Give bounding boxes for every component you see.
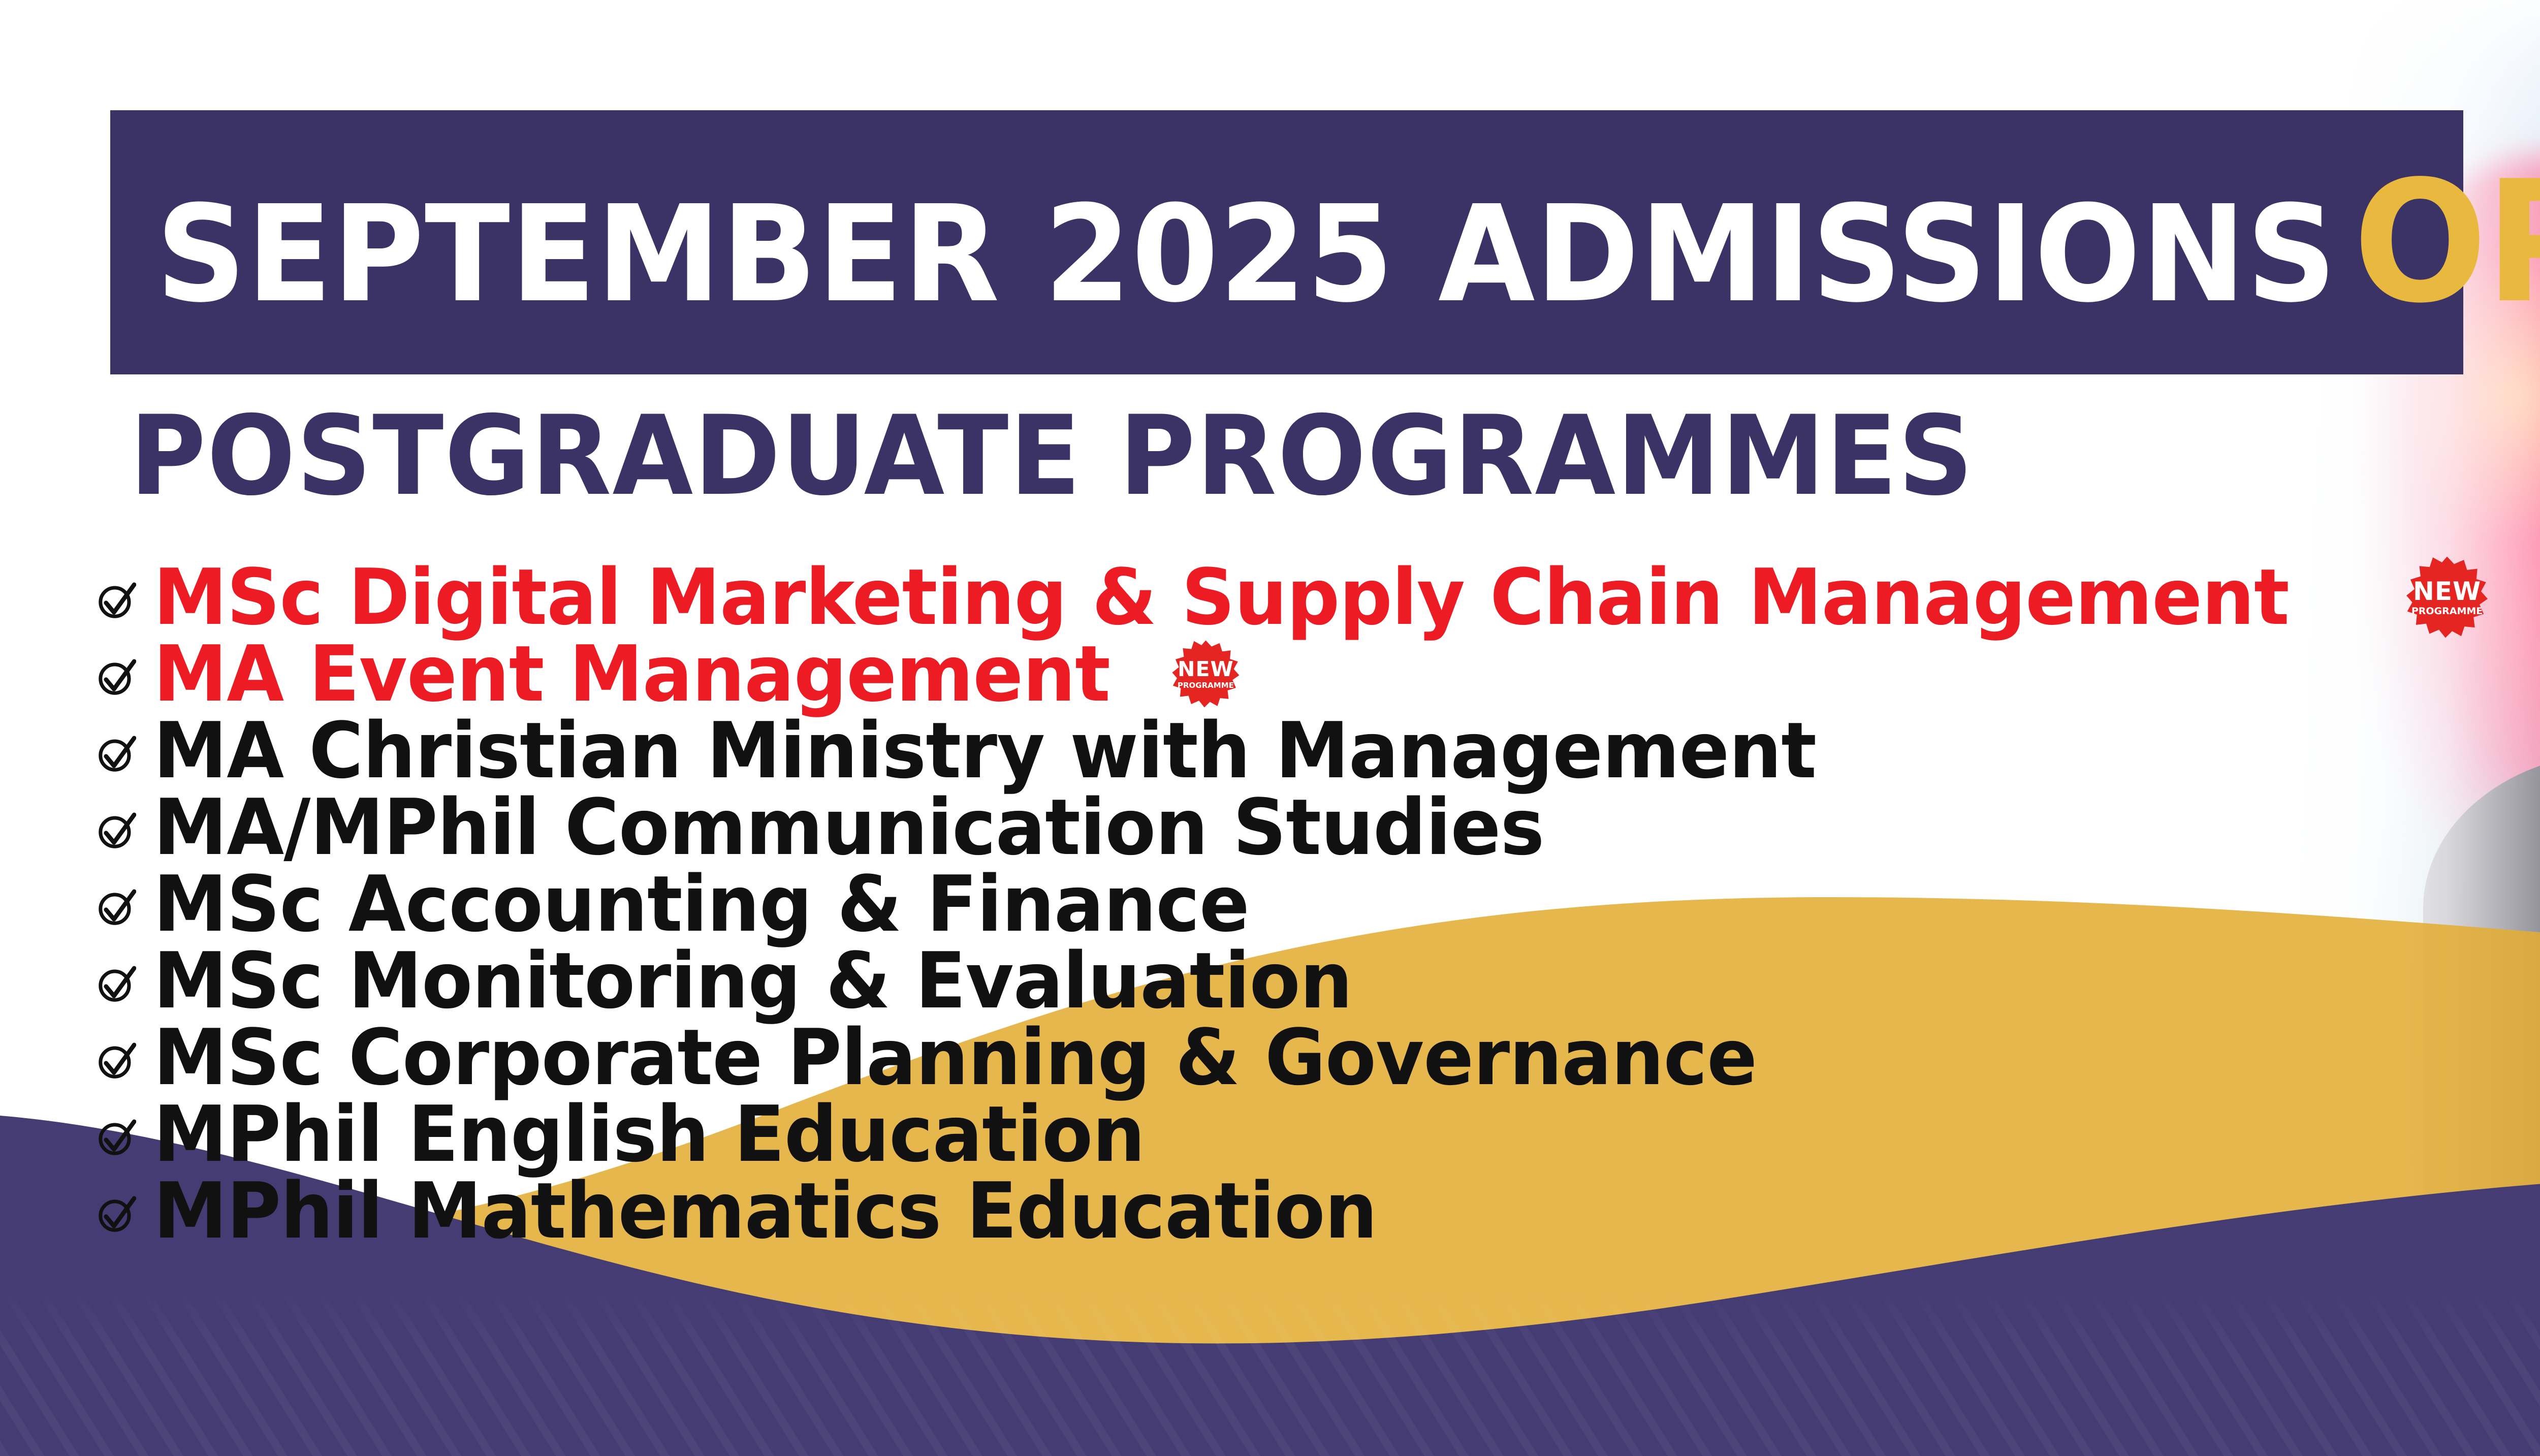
programme-item-2[interactable]: MA Christian Ministry with Management <box>97 712 2488 789</box>
badge-new-label: NEW <box>2413 579 2481 604</box>
list-item-label: MA Christian Ministry with Management <box>153 712 1816 789</box>
list-item-label: MSc Monitoring & Evaluation <box>153 942 1352 1020</box>
list-item-label: MA Event Management <box>153 636 1110 713</box>
check-circle-icon <box>97 1118 136 1157</box>
programme-list: MSc Digital Marketing & Supply Chain Man… <box>97 559 2488 1249</box>
banner-content: SEPTEMBER 2025 ADMISSIONSOPEN POSTGRADUA… <box>0 0 2489 1456</box>
check-circle-icon <box>97 1041 136 1081</box>
headline-open-label: OPEN <box>2353 145 2540 340</box>
check-circle-icon <box>97 581 136 620</box>
programme-item-8[interactable]: MPhil Mathematics Education <box>97 1173 2488 1249</box>
check-circle-icon <box>97 1194 136 1234</box>
check-circle-icon <box>97 734 136 774</box>
programme-item-0[interactable]: MSc Digital Marketing & Supply Chain Man… <box>97 559 2488 636</box>
admissions-banner: GRADUATING CLASS 🌿 GCDIΠX CSU EXCELLENCE… <box>0 0 2540 1456</box>
check-circle-icon <box>97 964 136 1004</box>
check-circle-icon <box>97 657 136 697</box>
programme-item-5[interactable]: MSc Monitoring & Evaluation <box>97 942 2488 1019</box>
list-item-label: MPhil Mathematics Education <box>153 1173 1377 1250</box>
programme-item-4[interactable]: MSc Accounting & Finance <box>97 866 2488 942</box>
check-circle-icon <box>97 811 136 850</box>
headline-main-text: SEPTEMBER 2025 ADMISSIONSOPEN <box>156 159 2540 326</box>
badge-programme-label: PROGRAMME <box>1178 682 1234 689</box>
new-programme-badge: NEWPROGRAMME <box>2406 557 2488 638</box>
check-circle-icon <box>97 888 136 927</box>
programme-item-7[interactable]: MPhil English Education <box>97 1096 2488 1173</box>
list-item-label: MSc Digital Marketing & Supply Chain Man… <box>153 559 2289 636</box>
headline-main-label: SEPTEMBER 2025 ADMISSIONS <box>156 177 2337 332</box>
list-item-label: MA/MPhil Communication Studies <box>153 789 1544 866</box>
new-programme-badge: NEWPROGRAMME <box>1172 641 1239 708</box>
programme-item-6[interactable]: MSc Corporate Planning & Governance <box>97 1019 2488 1096</box>
list-item-label: MSc Corporate Planning & Governance <box>153 1019 1757 1096</box>
page-title: POSTGRADUATE PROGRAMMES <box>130 401 1974 511</box>
programme-item-1[interactable]: MA Event Management NEWPROGRAMME <box>97 636 2488 712</box>
headline-bar: SEPTEMBER 2025 ADMISSIONSOPEN <box>110 110 2463 374</box>
badge-new-label: NEW <box>1178 659 1234 680</box>
list-item-label: MPhil English Education <box>153 1096 1145 1173</box>
programme-item-3[interactable]: MA/MPhil Communication Studies <box>97 789 2488 866</box>
badge-programme-label: PROGRAMME <box>2411 607 2483 616</box>
list-item-label: MSc Accounting & Finance <box>153 866 1249 943</box>
